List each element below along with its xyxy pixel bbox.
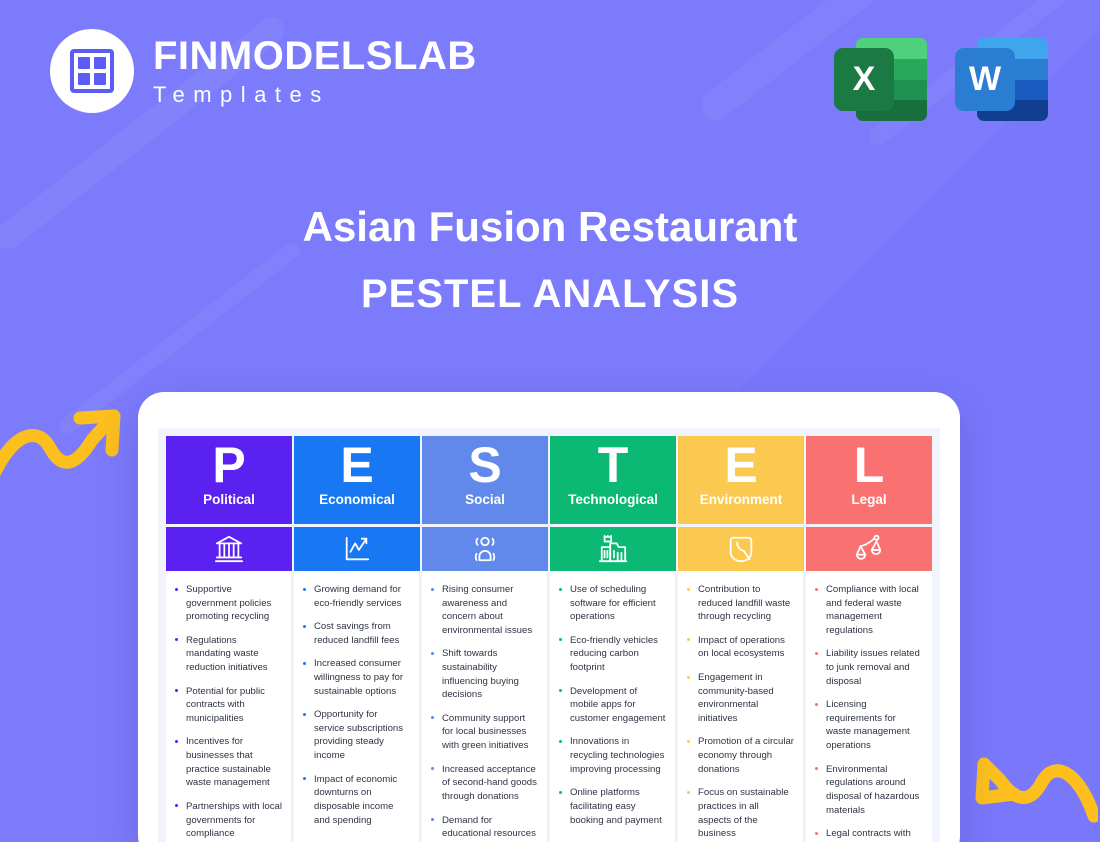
page-title-block: Asian Fusion Restaurant PESTEL ANALYSIS — [0, 202, 1100, 317]
brand-logo: FINMODELSLAB Templates — [50, 29, 477, 113]
list-item: Impact of economic downturns on disposab… — [302, 773, 410, 827]
list-item: Legal contracts with recycling centers a… — [814, 827, 923, 842]
excel-letter: X — [834, 48, 894, 111]
word-letter: W — [955, 48, 1015, 111]
scales-icon — [854, 534, 884, 564]
page-title: Asian Fusion Restaurant — [0, 202, 1100, 252]
pestel-column-body: Contribution to reduced landfill waste t… — [678, 571, 804, 842]
list-item: Environmental regulations around disposa… — [814, 763, 923, 817]
list-item: Supportive government policies promoting… — [174, 583, 282, 624]
tablet-device-mockup: PPolitical Supportive government policie… — [138, 392, 960, 842]
word-icon[interactable]: W — [955, 28, 1048, 121]
pestel-column-header: LLegal — [806, 436, 932, 524]
pestel-label: Social — [465, 492, 505, 507]
tablet-screen: PPolitical Supportive government policie… — [158, 428, 940, 842]
list-item: Eco-friendly vehicles reducing carbon fo… — [558, 634, 666, 675]
pestel-letter: E — [724, 440, 757, 491]
pestel-column-legal: LLegal Compliance with local and federal… — [806, 436, 932, 842]
pestel-label: Economical — [319, 492, 395, 507]
list-item: Increased consumer willingness to pay fo… — [302, 657, 410, 698]
list-item: Use of scheduling software for efficient… — [558, 583, 666, 624]
leaf-icon-cell — [678, 527, 804, 571]
pestel-column-economical: EEconomical Growing demand for eco-frien… — [294, 436, 420, 842]
brand-subtitle: Templates — [153, 84, 477, 106]
pestel-column-header: TTechnological — [550, 436, 676, 524]
list-item: Innovations in recycling technologies im… — [558, 735, 666, 776]
squiggle-arrow-left-icon — [0, 404, 132, 499]
grid-logo-icon — [50, 29, 134, 113]
pestel-letter: T — [598, 440, 629, 491]
pestel-column-body: Growing demand for eco-friendly services… — [294, 571, 420, 842]
list-item: Demand for educational resources on wast… — [430, 814, 538, 842]
list-item: Shift towards sustainability influencing… — [430, 647, 538, 701]
excel-icon[interactable]: X — [834, 28, 927, 121]
pestel-item-list: Supportive government policies promoting… — [174, 583, 282, 841]
pestel-label: Technological — [568, 492, 658, 507]
pestel-column-header: SSocial — [422, 436, 548, 524]
list-item: Rising consumer awareness and concern ab… — [430, 583, 538, 637]
bank-icon — [214, 534, 244, 564]
scales-icon-cell — [806, 527, 932, 571]
pestel-column-environment: EEnvironment Contribution to reduced lan… — [678, 436, 804, 842]
pestel-item-list: Growing demand for eco-friendly services… — [302, 583, 410, 827]
list-item: Promotion of a circular economy through … — [686, 735, 794, 776]
leaf-icon — [726, 534, 756, 564]
line-chart-icon — [342, 534, 372, 564]
factory-icon-cell — [550, 527, 676, 571]
list-item: Engagement in community-based environmen… — [686, 671, 794, 725]
list-item: Development of mobile apps for customer … — [558, 685, 666, 726]
pestel-column-header: PPolitical — [166, 436, 292, 524]
pestel-column-header: EEconomical — [294, 436, 420, 524]
pestel-column-header: EEnvironment — [678, 436, 804, 524]
pestel-letter: P — [212, 440, 245, 491]
pestel-item-list: Contribution to reduced landfill waste t… — [686, 583, 794, 841]
list-item: Online platforms facilitating easy booki… — [558, 786, 666, 827]
pestel-label: Environment — [700, 492, 783, 507]
list-item: Opportunity for service subscriptions pr… — [302, 708, 410, 762]
page-subtitle: PESTEL ANALYSIS — [0, 272, 1100, 317]
pestel-column-political: PPolitical Supportive government policie… — [166, 436, 292, 842]
list-item: Incentives for businesses that practice … — [174, 735, 282, 789]
list-item: Liability issues related to junk removal… — [814, 647, 923, 688]
line-chart-icon-cell — [294, 527, 420, 571]
list-item: Growing demand for eco-friendly services — [302, 583, 410, 610]
list-item: Impact of operations on local ecosystems — [686, 634, 794, 661]
list-item: Increased acceptance of second-hand good… — [430, 763, 538, 804]
squiggle-arrow-right-icon — [966, 754, 1098, 842]
pestel-column-body: Compliance with local and federal waste … — [806, 571, 932, 842]
pestel-label: Legal — [851, 492, 886, 507]
people-group-icon-cell — [422, 527, 548, 571]
people-group-icon — [470, 534, 500, 564]
pestel-column-technological: TTechnological Use of scheduling softwar… — [550, 436, 676, 842]
pestel-letter: L — [854, 440, 885, 491]
pestel-item-list: Use of scheduling software for efficient… — [558, 583, 666, 827]
pestel-letter: E — [340, 440, 373, 491]
list-item: Potential for public contracts with muni… — [174, 685, 282, 726]
pestel-column-social: SSocial Rising consumer awareness and co… — [422, 436, 548, 842]
list-item: Contribution to reduced landfill waste t… — [686, 583, 794, 624]
pestel-item-list: Rising consumer awareness and concern ab… — [430, 583, 538, 842]
list-item: Partnerships with local governments for … — [174, 800, 282, 841]
list-item: Regulations mandating waste reduction in… — [174, 634, 282, 675]
pestel-letter: S — [468, 440, 501, 491]
file-format-icons: X W — [834, 28, 1048, 121]
list-item: Focus on sustainable practices in all as… — [686, 786, 794, 840]
brand-name: FINMODELSLAB — [153, 36, 477, 76]
pestel-column-body: Supportive government policies promoting… — [166, 571, 292, 842]
list-item: Community support for local businesses w… — [430, 712, 538, 753]
pestel-column-body: Use of scheduling software for efficient… — [550, 571, 676, 842]
pestel-label: Political — [203, 492, 255, 507]
list-item: Compliance with local and federal waste … — [814, 583, 923, 637]
pestel-matrix: PPolitical Supportive government policie… — [166, 436, 932, 842]
list-item: Cost savings from reduced landfill fees — [302, 620, 410, 647]
pestel-item-list: Compliance with local and federal waste … — [814, 583, 923, 842]
list-item: Licensing requirements for waste managem… — [814, 698, 923, 752]
pestel-column-body: Rising consumer awareness and concern ab… — [422, 571, 548, 842]
bank-icon-cell — [166, 527, 292, 571]
factory-icon — [598, 534, 628, 564]
